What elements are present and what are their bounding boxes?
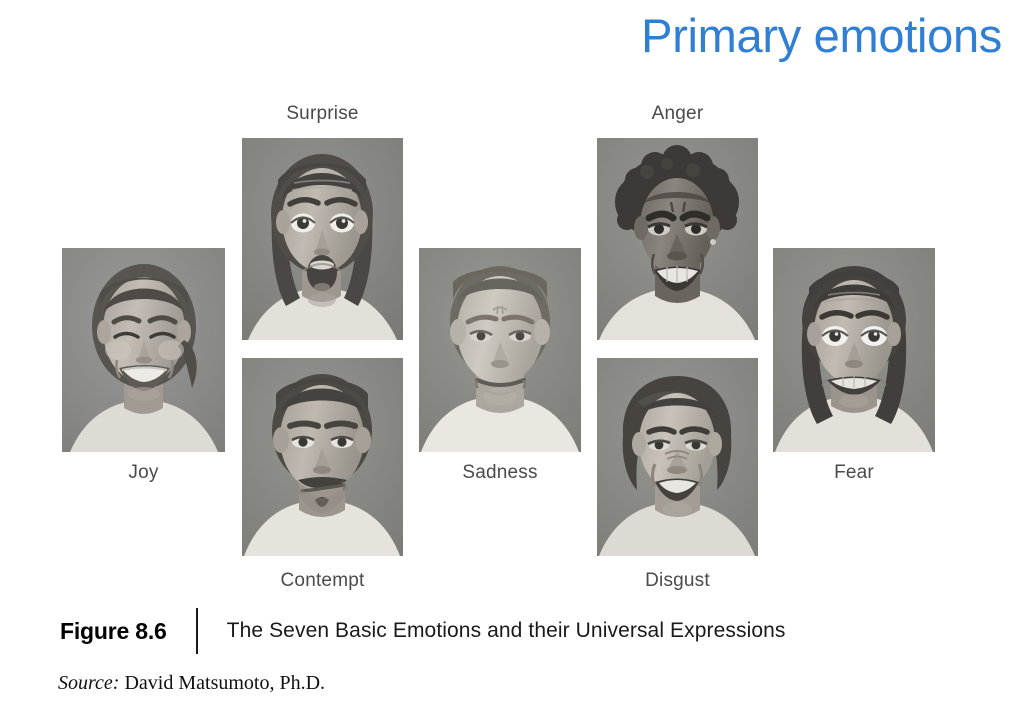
photo-cell-joy: [62, 248, 225, 452]
source-label: Source:: [58, 672, 119, 694]
photo-fear: [773, 248, 935, 452]
figure-source: Source: David Matsumoto, Ph.D.: [58, 672, 325, 695]
photo-surprise: [242, 138, 403, 340]
page-title: Primary emotions: [641, 8, 1002, 63]
photo-cell-anger: [597, 138, 758, 340]
photo-joy: [62, 248, 225, 452]
photo-label-fear: Fear: [773, 462, 935, 484]
photo-label-sadness: Sadness: [419, 462, 581, 484]
photo-contempt: [242, 358, 403, 556]
photo-cell-disgust: [597, 358, 758, 556]
photo-cell-surprise: [242, 138, 403, 340]
photo-cell-contempt: [242, 358, 403, 556]
photo-anger: [597, 138, 758, 340]
photo-disgust: [597, 358, 758, 556]
photo-label-contempt: Contempt: [242, 570, 403, 592]
figure-caption-text: The Seven Basic Emotions and their Unive…: [227, 619, 786, 643]
photo-cell-fear: [773, 248, 935, 452]
photo-label-surprise: Surprise: [242, 103, 403, 125]
photo-cell-sadness: [419, 248, 581, 452]
photo-label-joy: Joy: [62, 462, 225, 484]
photo-sadness: [419, 248, 581, 452]
photo-label-anger: Anger: [597, 103, 758, 125]
photo-label-disgust: Disgust: [597, 570, 758, 592]
figure-caption-row: Figure 8.6 The Seven Basic Emotions and …: [60, 608, 786, 654]
figure-number: Figure 8.6: [60, 618, 167, 645]
caption-divider: [196, 608, 198, 654]
source-text: David Matsumoto, Ph.D.: [124, 672, 325, 694]
